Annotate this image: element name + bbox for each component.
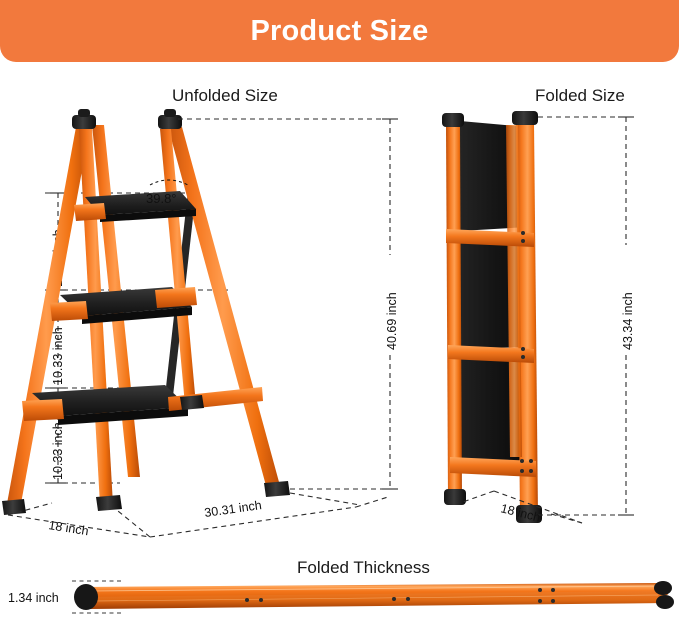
ladder-step-bottom — [22, 385, 188, 425]
ladder-foot-front-right — [264, 481, 290, 497]
ladder-foot-inner-left — [96, 495, 122, 511]
product-size-infographic: Product Size Unfolded Size Folded Size F… — [0, 0, 679, 622]
folded-thickness-diagram: 1.34 inch — [0, 575, 679, 622]
page-title: Product Size — [0, 0, 679, 62]
folded-ladder-diagram: 43.34 inch 18 inch — [430, 105, 679, 540]
thickness-cap-left — [74, 584, 98, 610]
dim-step-rise-3: 10.33 inch — [51, 422, 65, 480]
dimension-folded-height — [538, 117, 634, 515]
ladder-hinge-cap-left — [72, 109, 96, 129]
section-caption-folded: Folded Size — [535, 86, 625, 106]
folded-top-cap-left — [442, 113, 464, 127]
folded-top-cap-right — [512, 111, 538, 125]
dim-unfolded-height: 40.69 inch — [385, 292, 399, 350]
dim-thickness-value: 1.34 inch — [8, 591, 59, 605]
dim-folded-height: 43.34 inch — [621, 292, 635, 350]
section-caption-unfolded: Unfolded Size — [172, 86, 278, 106]
folded-left-rail — [446, 127, 462, 499]
angle-value: 39.8° — [146, 191, 177, 206]
ladder-foot-rear-support — [180, 395, 204, 410]
dim-unfolded-depth: 18 inch — [48, 518, 90, 538]
unfolded-ladder-diagram: 10.33 inch 10.33 inch 10.33 inch — [0, 105, 430, 540]
dim-step-rise-2: 10.33 inch — [51, 327, 65, 385]
ladder-foot-front-left — [2, 499, 26, 515]
dim-unfolded-span: 30.31 inch — [203, 498, 262, 520]
thickness-bar — [80, 583, 668, 609]
folded-foot-left — [444, 489, 466, 505]
